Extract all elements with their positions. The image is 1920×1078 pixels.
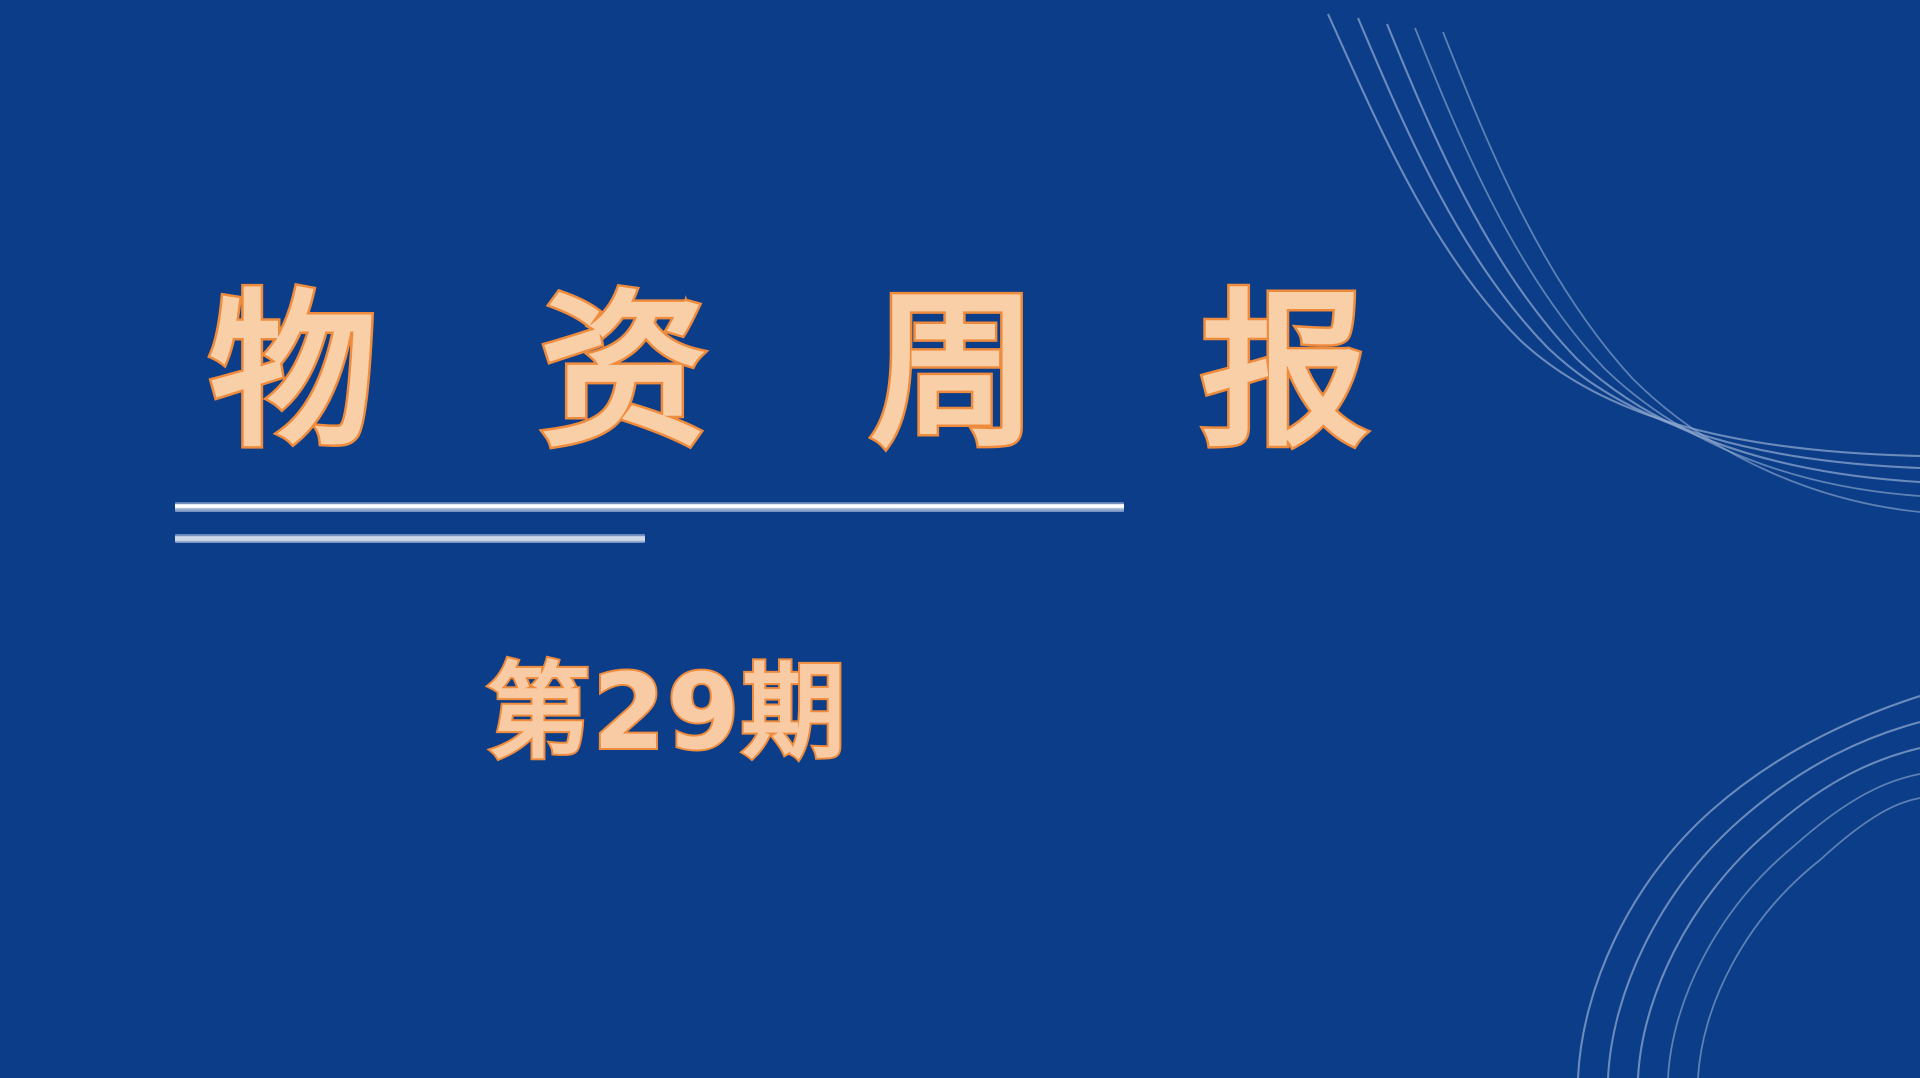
arc-line-1 bbox=[1578, 696, 1920, 1078]
swoosh-line-4 bbox=[1415, 28, 1920, 496]
arc-line-5 bbox=[1698, 798, 1920, 1078]
swoosh-line-5 bbox=[1443, 32, 1920, 512]
arc-line-3 bbox=[1638, 748, 1920, 1078]
arc-line-2 bbox=[1608, 722, 1920, 1078]
cover-slide: 物 资 周 报 第29期 bbox=[0, 0, 1920, 1078]
swoosh-line-3 bbox=[1387, 24, 1920, 482]
issue-subtitle: 第29期 bbox=[0, 655, 1334, 769]
swoosh-line-2 bbox=[1358, 18, 1920, 468]
arc-line-4 bbox=[1668, 774, 1920, 1078]
bottom-right-arc-lines bbox=[1260, 598, 1920, 1078]
title-underline-long bbox=[175, 502, 1124, 512]
title-block: 物 资 周 报 bbox=[175, 288, 1175, 456]
title-underline-short bbox=[175, 534, 645, 543]
page-title: 物 资 周 报 bbox=[175, 288, 1175, 456]
